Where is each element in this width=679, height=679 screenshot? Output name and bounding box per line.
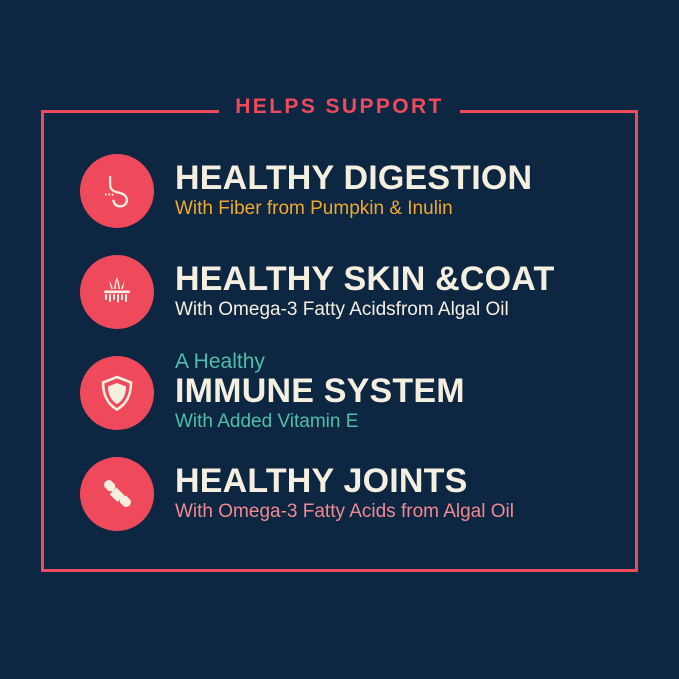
list-item: HEALTHY JOINTS With Omega-3 Fatty Acids …: [80, 443, 610, 544]
benefit-icon-badge: [80, 154, 154, 228]
header-text: HELPS SUPPORT: [219, 95, 460, 118]
benefit-title: HEALTHY DIGESTION: [175, 161, 610, 195]
benefit-icon-badge: [80, 356, 154, 430]
benefit-icon-badge: [80, 457, 154, 531]
benefit-subtitle: With Fiber from Pumpkin & Inulin: [175, 197, 610, 221]
list-item: HEALTHY SKIN &COAT With Omega-3 Fatty Ac…: [80, 241, 610, 342]
benefit-text-group: HEALTHY JOINTS With Omega-3 Fatty Acids …: [175, 464, 610, 524]
hair-follicle-icon: [95, 270, 139, 314]
stomach-icon: [95, 169, 139, 213]
benefit-subtitle: With Added Vitamin E: [175, 410, 610, 434]
benefit-list: HEALTHY DIGESTION With Fiber from Pumpki…: [80, 140, 610, 544]
benefit-pretitle: A Healthy: [175, 351, 610, 373]
list-item: A Healthy IMMUNE SYSTEM With Added Vitam…: [80, 342, 610, 443]
benefit-icon-badge: [80, 255, 154, 329]
benefit-subtitle: With Omega-3 Fatty Acidsfrom Algal Oil: [175, 298, 610, 322]
header-label: HELPS SUPPORT: [0, 95, 679, 119]
shield-icon: [95, 371, 139, 415]
promotional-poster: HELPS SUPPORT HEALTHY DIGESTION With Fib…: [0, 0, 679, 679]
benefit-text-group: A Healthy IMMUNE SYSTEM With Added Vitam…: [175, 351, 610, 434]
joint-bone-icon: [95, 472, 139, 516]
benefit-subtitle: With Omega-3 Fatty Acids from Algal Oil: [175, 500, 610, 524]
benefit-text-group: HEALTHY DIGESTION With Fiber from Pumpki…: [175, 161, 610, 221]
benefit-title: HEALTHY JOINTS: [175, 464, 610, 498]
list-item: HEALTHY DIGESTION With Fiber from Pumpki…: [80, 140, 610, 241]
benefit-title: IMMUNE SYSTEM: [175, 374, 610, 408]
benefit-title: HEALTHY SKIN &COAT: [175, 262, 610, 296]
benefit-text-group: HEALTHY SKIN &COAT With Omega-3 Fatty Ac…: [175, 262, 610, 322]
